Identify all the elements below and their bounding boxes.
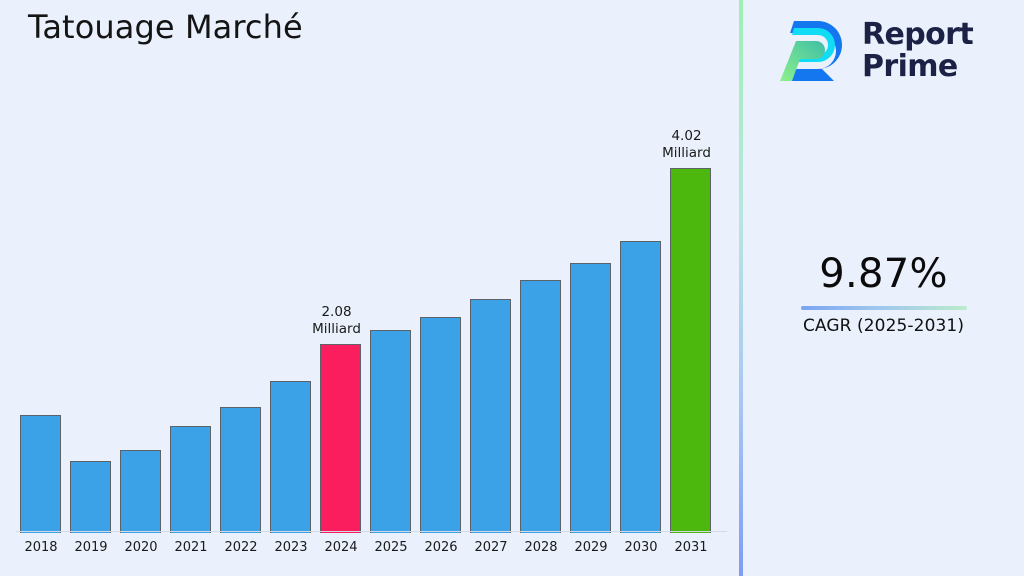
bar-2018[interactable]: [20, 415, 61, 533]
bar-slot-2030: [616, 120, 666, 533]
x-axis-line: [16, 531, 727, 532]
cagr-caption: CAGR (2025-2031): [743, 316, 1024, 336]
bar-2022[interactable]: [220, 407, 261, 533]
x-tick-2026: 2026: [416, 540, 466, 555]
x-tick-2030: 2030: [616, 540, 666, 555]
bar-2030[interactable]: [620, 241, 661, 533]
bar-2027[interactable]: [470, 299, 511, 533]
side-panel: Report Prime 9.87% CAGR (2025-2031): [743, 0, 1024, 576]
brand-line-1: Report: [862, 19, 973, 51]
cagr-value: 9.87%: [743, 250, 1024, 298]
bar-slot-2029: [566, 120, 616, 533]
chart-panel: 2.08Milliard4.02Milliard 201820192020202…: [0, 0, 739, 576]
bar-2025[interactable]: [370, 330, 411, 533]
bar-2029[interactable]: [570, 263, 611, 533]
bar-slot-2021: [166, 120, 216, 533]
bar-slot-2025: [366, 120, 416, 533]
bar-2026[interactable]: [420, 317, 461, 533]
bar-2020[interactable]: [120, 450, 161, 533]
bar-slot-2020: [116, 120, 166, 533]
bar-value-label-2024: 2.08Milliard: [303, 304, 370, 338]
bar-2023[interactable]: [270, 381, 311, 533]
x-tick-2031: 2031: [666, 540, 716, 555]
x-tick-2029: 2029: [566, 540, 616, 555]
report-prime-logo-icon: [776, 15, 848, 87]
brand-logo: Report Prime: [776, 10, 996, 92]
bar-slot-2018: [16, 120, 66, 533]
bar-2028[interactable]: [520, 280, 561, 533]
x-tick-2028: 2028: [516, 540, 566, 555]
x-tick-2024: 2024: [316, 540, 366, 555]
x-tick-2019: 2019: [66, 540, 116, 555]
x-tick-2021: 2021: [166, 540, 216, 555]
x-tick-2025: 2025: [366, 540, 416, 555]
cagr-divider-rule: [801, 306, 967, 310]
bar-slot-2024: 2.08Milliard: [316, 120, 366, 533]
bar-value-label-2031: 4.02Milliard: [653, 128, 720, 162]
report-slide: Tatouage Marché 2.08Milliard4.02Milliard…: [0, 0, 1024, 576]
brand-line-2: Prime: [862, 51, 973, 83]
cagr-block: 9.87% CAGR (2025-2031): [743, 250, 1024, 336]
x-tick-2027: 2027: [466, 540, 516, 555]
x-tick-2020: 2020: [116, 540, 166, 555]
x-tick-2018: 2018: [16, 540, 66, 555]
bar-2031[interactable]: [670, 168, 711, 533]
bar-slot-2028: [516, 120, 566, 533]
x-tick-2022: 2022: [216, 540, 266, 555]
bar-slot-2019: [66, 120, 116, 533]
bar-chart-plot-area: 2.08Milliard4.02Milliard: [16, 120, 727, 533]
bar-2024[interactable]: [320, 344, 361, 533]
bar-slot-2027: [466, 120, 516, 533]
brand-wordmark: Report Prime: [862, 19, 973, 83]
bar-slot-2022: [216, 120, 266, 533]
bar-slot-2031: 4.02Milliard: [666, 120, 716, 533]
bar-2021[interactable]: [170, 426, 211, 533]
bar-2019[interactable]: [70, 461, 111, 533]
bar-slot-2026: [416, 120, 466, 533]
x-tick-2023: 2023: [266, 540, 316, 555]
